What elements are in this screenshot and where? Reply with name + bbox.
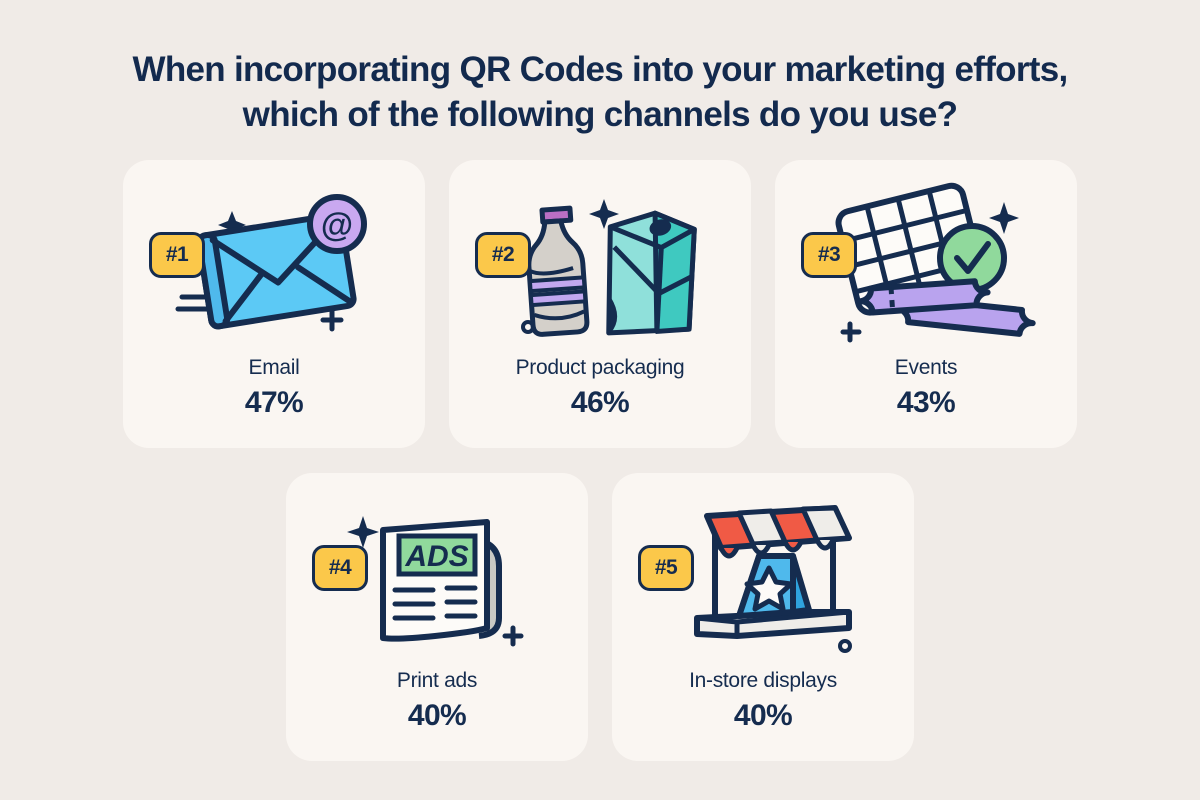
- rank-badge: #3: [801, 232, 857, 278]
- channel-percentage: 40%: [286, 696, 588, 735]
- card-row-top: #1: [123, 160, 1077, 448]
- svg-text:@: @: [321, 206, 353, 243]
- card-row-bottom: #4 ADS: [123, 473, 1077, 761]
- card-caption: Product packaging 46%: [449, 355, 751, 421]
- card-caption: In-store displays 40%: [612, 668, 914, 734]
- channel-label: Print ads: [286, 668, 588, 694]
- page-title-line-1: When incorporating QR Codes into your ma…: [60, 48, 1140, 93]
- channel-percentage: 43%: [775, 383, 1077, 422]
- channel-label: Events: [775, 355, 1077, 381]
- channel-label: Email: [123, 355, 425, 381]
- card-caption: Print ads 40%: [286, 668, 588, 734]
- channel-card-events[interactable]: #3: [775, 160, 1077, 448]
- rank-badge: #4: [312, 545, 368, 591]
- channel-percentage: 40%: [612, 696, 914, 735]
- channel-label: Product packaging: [449, 355, 751, 381]
- channel-card-in-store-displays[interactable]: #5: [612, 473, 914, 761]
- rank-badge: #5: [638, 545, 694, 591]
- page-title: When incorporating QR Codes into your ma…: [60, 48, 1140, 138]
- page-title-line-2: which of the following channels do you u…: [60, 93, 1140, 138]
- channel-card-product-packaging[interactable]: #2: [449, 160, 751, 448]
- channel-card-email[interactable]: #1: [123, 160, 425, 448]
- rank-badge: #1: [149, 232, 205, 278]
- channel-label: In-store displays: [612, 668, 914, 694]
- channel-percentage: 46%: [449, 383, 751, 422]
- channel-percentage: 47%: [123, 383, 425, 422]
- svg-text:ADS: ADS: [404, 540, 468, 573]
- rank-badge: #2: [475, 232, 531, 278]
- card-caption: Events 43%: [775, 355, 1077, 421]
- channel-card-print-ads[interactable]: #4 ADS: [286, 473, 588, 761]
- channel-card-grid: #1: [123, 160, 1077, 761]
- card-caption: Email 47%: [123, 355, 425, 421]
